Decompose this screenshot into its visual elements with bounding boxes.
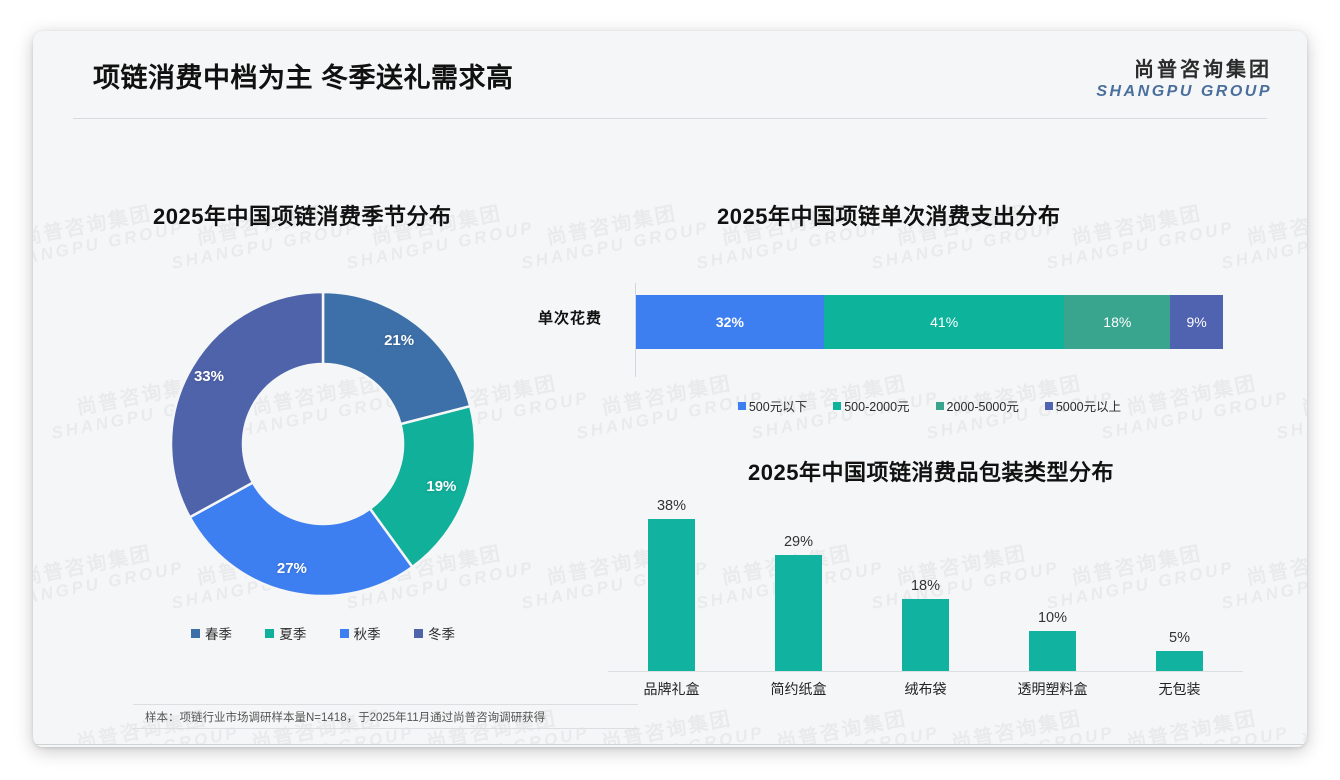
footnote-divider-top [133,704,638,705]
donut-slice-label: 21% [384,332,414,349]
legend-swatch-icon [738,402,746,410]
legend-swatch-icon [936,402,944,410]
stacked-bar-category-label: 单次花费 [538,307,602,328]
packaging-column-chart: 38%29%18%10%5% [608,503,1243,671]
legend-item-春季[interactable]: 春季 [191,623,232,643]
slide-header: 项链消费中档为主 冬季送礼需求高 尚普咨询集团 SHANGPU GROUP [33,31,1307,118]
brand-name-cn: 尚普咨询集团 [1096,53,1272,82]
legend-label: 夏季 [279,623,306,643]
legend-item-冬季[interactable]: 冬季 [414,623,455,643]
column-x-label: 无包装 [1159,679,1201,699]
legend-label: 5000元以上 [1056,396,1121,415]
column-value-label: 29% [784,534,813,550]
column-bar-fill [1156,651,1203,671]
column-bar-透明塑料盒[interactable]: 10% [1029,631,1076,671]
stacked-bar-track: 32%41%18%9% [636,295,1223,349]
segment-value-label: 18% [1103,314,1131,330]
legend-swatch-icon [833,402,841,410]
segment-value-label: 41% [930,314,958,330]
stacked-bar-title: 2025年中国项链单次消费支出分布 [717,199,1060,231]
legend-item-500-2000元[interactable]: 500-2000元 [833,396,909,415]
column-value-label: 18% [911,578,940,594]
season-donut-chart: 21%19%27%33% [163,284,483,606]
donut-slice-冬季[interactable] [171,292,323,517]
legend-label: 500-2000元 [844,396,909,415]
header-divider [73,118,1267,119]
legend-swatch-icon [191,629,200,638]
donut-svg [163,284,483,604]
legend-label: 秋季 [354,623,381,643]
column-chart-baseline [608,671,1243,672]
legend-item-夏季[interactable]: 夏季 [265,623,306,643]
brand-name-en: SHANGPU GROUP [1096,83,1272,101]
page-title: 项链消费中档为主 冬季送礼需求高 [93,56,514,95]
column-bar-绒布袋[interactable]: 18% [902,599,949,671]
column-bar-fill [775,555,822,671]
donut-slice-label: 33% [194,368,224,385]
donut-slice-label: 27% [277,560,307,577]
stacked-bar-legend: 500元以下500-2000元2000-5000元5000元以上 [636,396,1223,415]
column-bar-fill [902,599,949,671]
legend-label: 冬季 [428,623,455,643]
sample-footnote: 样本：项链行业市场调研样本量N=1418，于2025年11月通过尚普咨询调研获得 [145,709,545,725]
donut-chart-title: 2025年中国项链消费季节分布 [153,199,451,231]
column-x-label: 绒布袋 [905,679,947,699]
slide-footer: ©2026.1 SHANGPU GROUP www.shangpu-china.… [33,745,1307,747]
column-bar-fill [1029,631,1076,671]
segment-value-label: 32% [716,314,744,330]
legend-swatch-icon [340,629,349,638]
column-bar-简约纸盒[interactable]: 29% [775,555,822,671]
legend-swatch-icon [265,629,274,638]
slide-body: 2025年中国项链消费季节分布 21%19%27%33% 春季夏季秋季冬季 20… [33,31,1307,747]
legend-label: 春季 [205,623,232,643]
column-x-label: 简约纸盒 [771,679,827,699]
legend-swatch-icon [1045,402,1053,410]
column-bar-无包装[interactable]: 5% [1156,651,1203,671]
stacked-segment-500元以下[interactable]: 32% [636,295,824,349]
legend-label: 2000-5000元 [947,396,1019,415]
slide-card: 尚普咨询集团SHANGPU GROUP尚普咨询集团SHANGPU GROUP尚普… [33,31,1307,747]
legend-item-500元以下[interactable]: 500元以下 [738,396,807,415]
column-bar-fill [648,519,695,671]
column-x-label: 品牌礼盒 [644,679,700,699]
season-donut-legend: 春季夏季秋季冬季 [163,623,483,643]
legend-swatch-icon [414,629,423,638]
column-chart-title: 2025年中国项链消费品包装类型分布 [748,455,1114,487]
column-value-label: 38% [657,498,686,514]
stacked-segment-5000元以上[interactable]: 9% [1170,295,1223,349]
legend-item-5000元以上[interactable]: 5000元以上 [1045,396,1121,415]
column-bar-品牌礼盒[interactable]: 38% [648,519,695,671]
column-value-label: 5% [1169,630,1190,646]
donut-slice-label: 19% [426,478,456,495]
legend-item-秋季[interactable]: 秋季 [340,623,381,643]
legend-item-2000-5000元[interactable]: 2000-5000元 [936,396,1019,415]
segment-value-label: 9% [1186,314,1206,330]
brand-logo: 尚普咨询集团 SHANGPU GROUP [1096,53,1272,101]
donut-slice-春季[interactable] [323,292,470,424]
legend-label: 500元以下 [749,396,807,415]
stacked-segment-2000-5000元[interactable]: 18% [1064,295,1170,349]
column-x-label: 透明塑料盒 [1018,679,1088,699]
column-value-label: 10% [1038,610,1067,626]
stacked-segment-500-2000元[interactable]: 41% [824,295,1065,349]
footnote-divider-bottom [133,728,638,729]
